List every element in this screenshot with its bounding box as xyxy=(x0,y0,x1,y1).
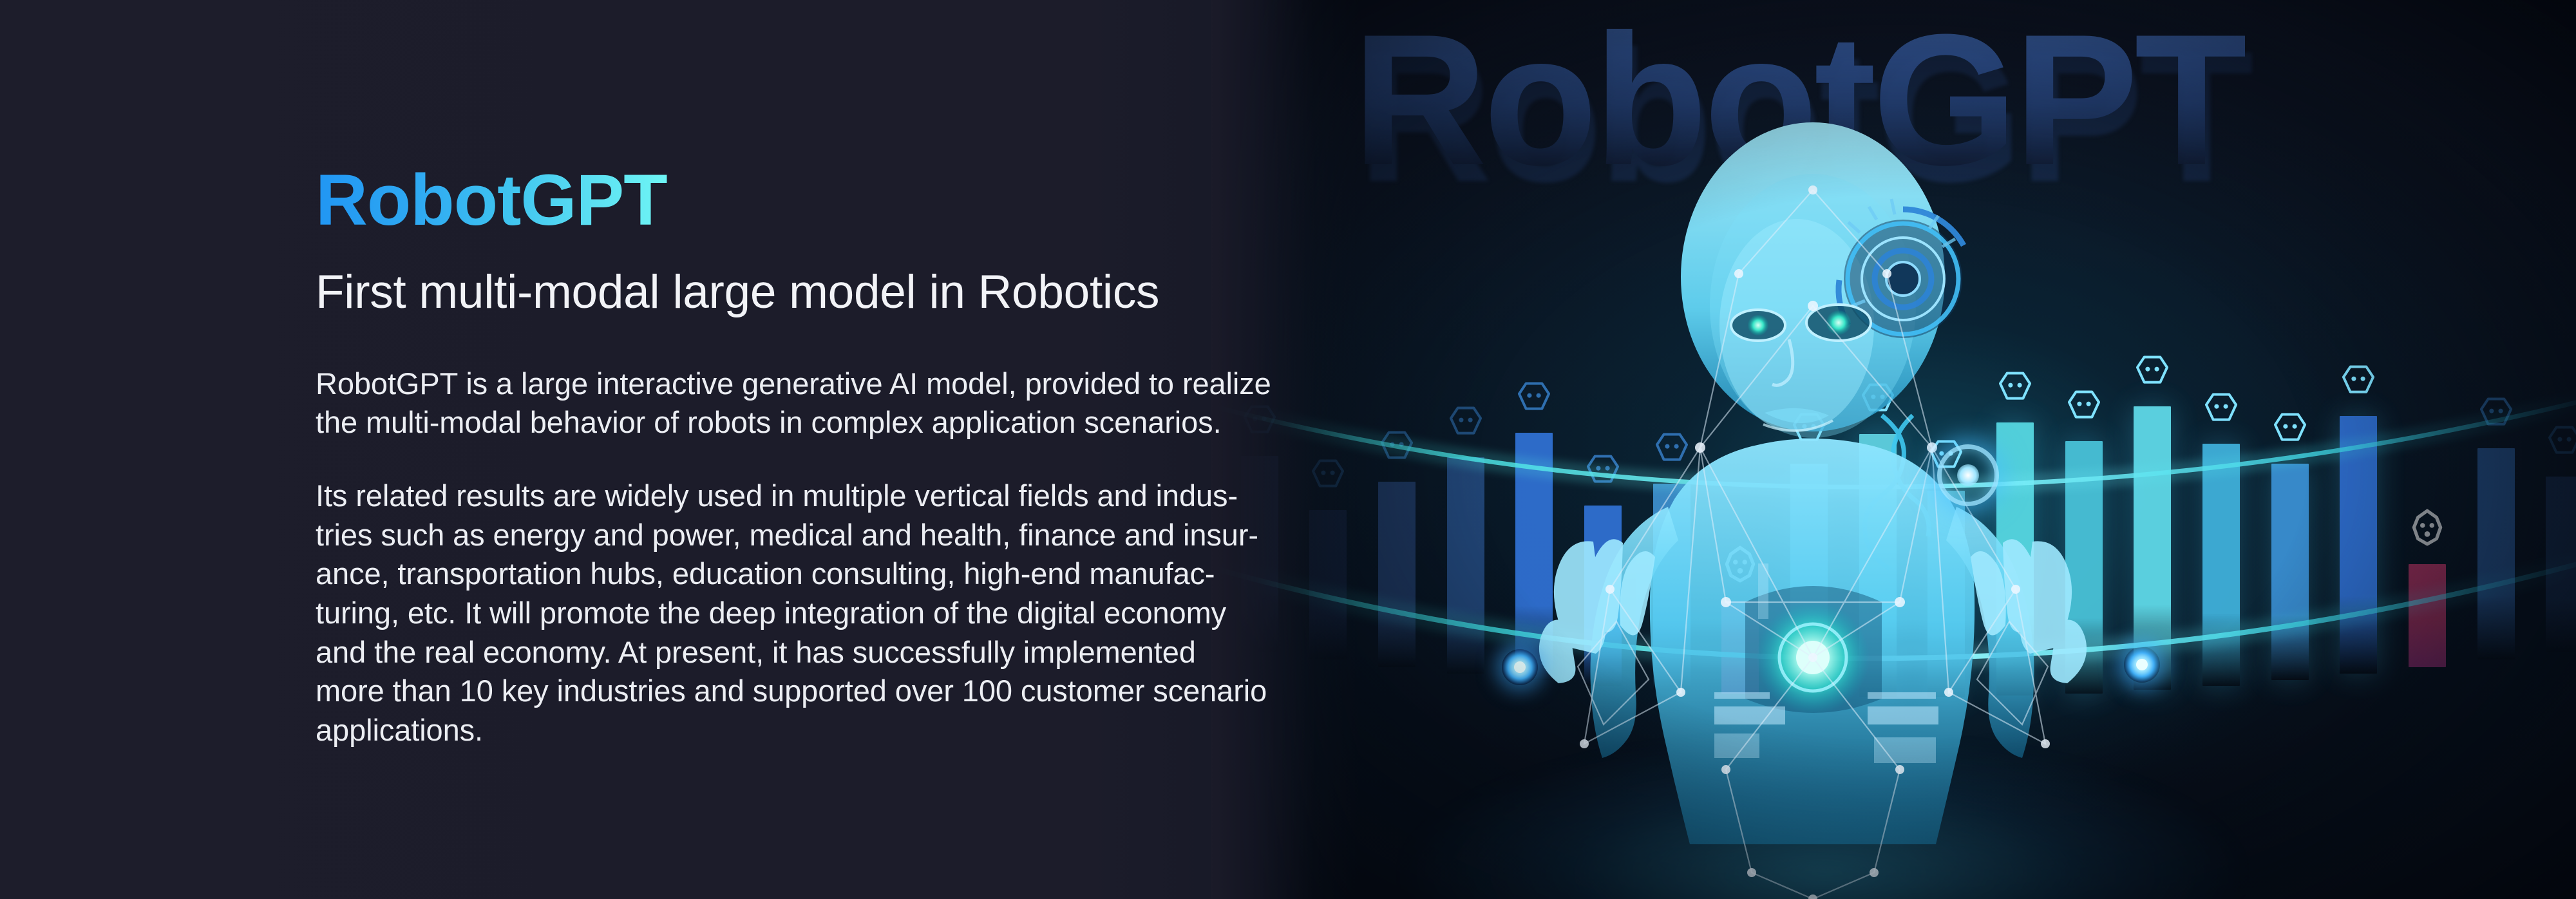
robot-head-icon xyxy=(2273,412,2307,444)
robot-head-icon xyxy=(2204,392,2239,424)
chart-bar xyxy=(1447,457,1484,674)
surprised-face-icon xyxy=(2407,507,2447,551)
hero-subtitle: First multi-modal large model in Robotic… xyxy=(316,267,1224,318)
chart-bar-alert xyxy=(2409,564,2446,667)
page-title: RobotGPT xyxy=(316,164,667,236)
robot-head-icon xyxy=(2479,397,2514,429)
robot-head-icon xyxy=(1448,406,1483,438)
robot-head-icon xyxy=(2547,425,2576,457)
chart-bar xyxy=(2477,448,2515,659)
hero-artwork: RobotGPT RobotGPT xyxy=(1211,0,2576,899)
paragraph-line: tries such as energy and power, medical … xyxy=(316,516,1224,555)
panel-seam-gradient xyxy=(1211,0,1359,899)
robot-figure xyxy=(1488,113,2138,899)
chart-bar xyxy=(1378,482,1416,667)
robotgpt-hero-banner: RobotGPT First multi-modal large model i… xyxy=(0,0,2576,899)
robot-head-icon xyxy=(2341,364,2376,397)
paragraph-line: RobotGPT is a large interactive generati… xyxy=(316,364,1224,404)
paragraph-line: more than 10 key industries and supporte… xyxy=(316,672,1224,711)
paragraph-line: Its related results are widely used in m… xyxy=(316,477,1224,516)
robot-head-icon xyxy=(1379,430,1414,462)
paragraph-line: applications. xyxy=(316,711,1224,750)
chart-bar xyxy=(2271,464,2309,680)
paragraph-line: the multi-modal behavior of robots in co… xyxy=(316,403,1224,442)
paragraph-intro: RobotGPT is a large interactive generati… xyxy=(316,364,1224,442)
node-glow-right xyxy=(2124,647,2160,683)
focus-ring-glow xyxy=(1937,444,1999,506)
paragraph-line: ance, transportation hubs, education con… xyxy=(316,554,1224,594)
paragraph-line: and the real economy. At present, it has… xyxy=(316,633,1224,672)
robot-head-icon xyxy=(2135,355,2170,387)
paragraph-line: turing, etc. It will promote the deep in… xyxy=(316,594,1224,633)
node-glow-left xyxy=(1502,649,1538,685)
chart-bar xyxy=(2202,444,2240,686)
chart-bar xyxy=(2340,416,2377,674)
hero-text-panel: RobotGPT First multi-modal large model i… xyxy=(0,0,1224,899)
chart-bar xyxy=(2546,477,2576,652)
hero-body-copy: RobotGPT is a large interactive generati… xyxy=(316,364,1224,750)
paragraph-industries: Its related results are widely used in m… xyxy=(316,477,1224,750)
